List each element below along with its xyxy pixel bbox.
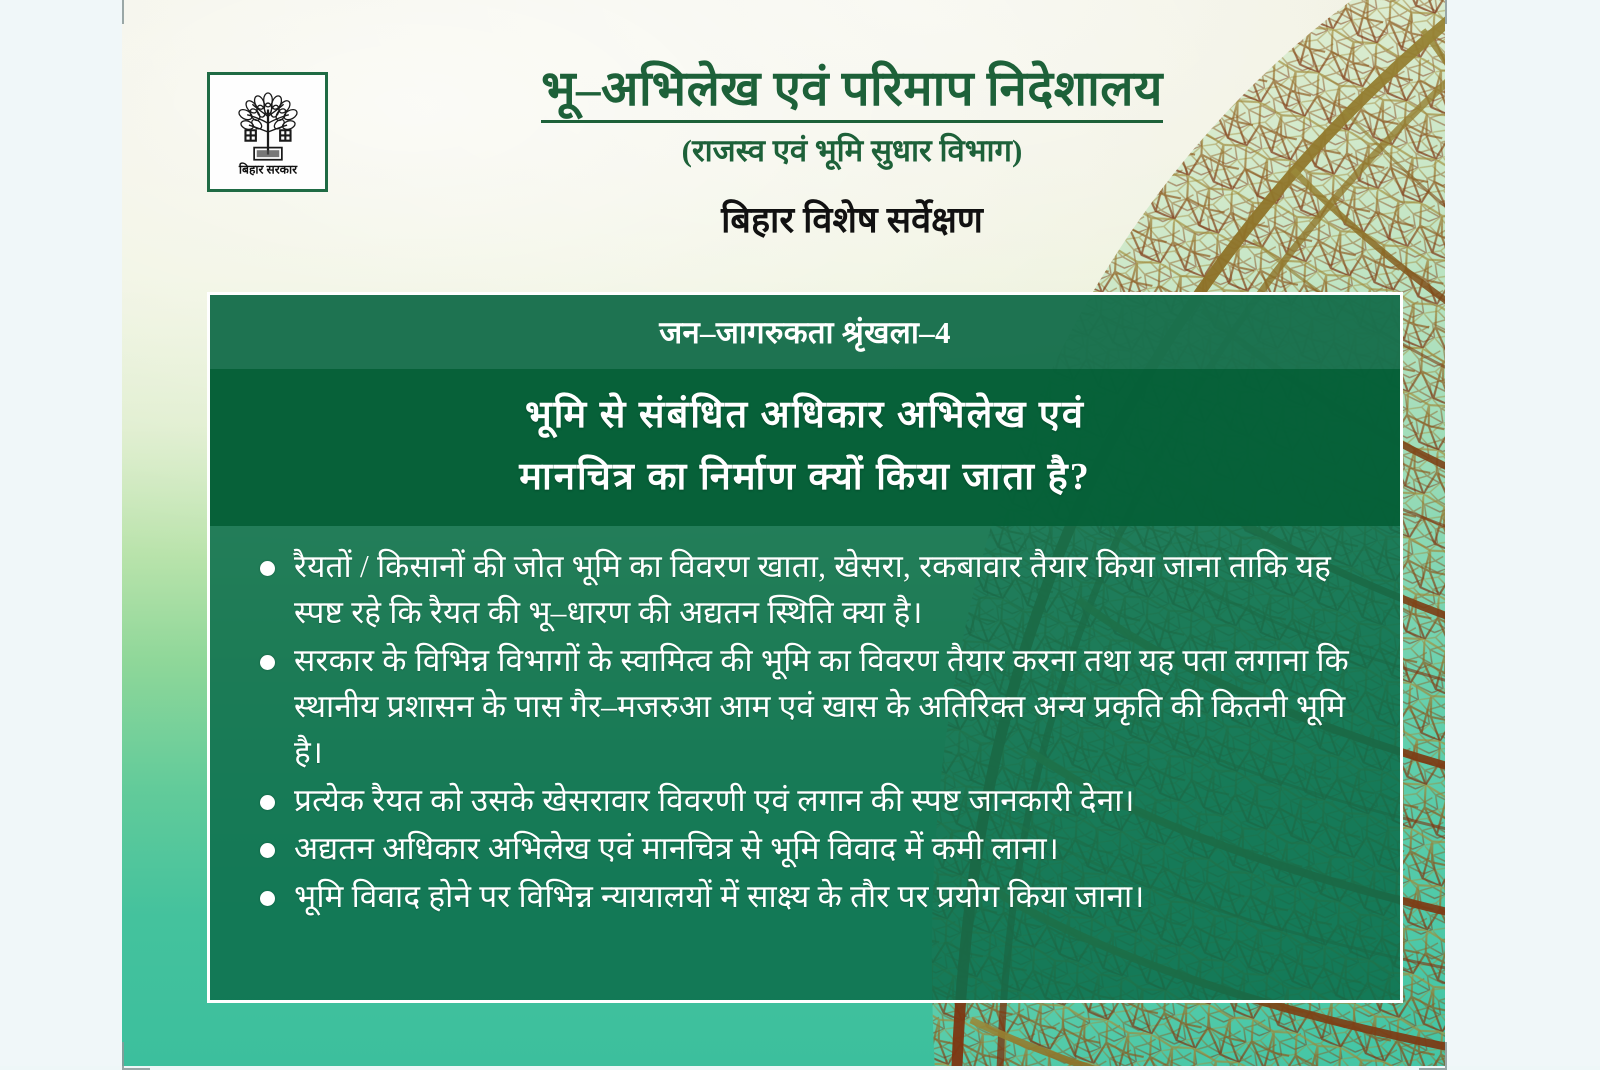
survey-title: बिहार विशेष सर्वेक्षण (322, 199, 1382, 242)
series-banner: जन–जागरुकता श्रृंखला–4 (210, 295, 1400, 369)
org-subtitle: (राजस्व एवं भूमि सुधार विभाग) (322, 132, 1382, 169)
list-item-text: सरकार के विभिन्न विभागों के स्वामित्व की… (294, 643, 1349, 770)
crop-mark-top-right (1419, 0, 1447, 24)
series-label: जन–जागरुकता श्रृंखला–4 (659, 311, 951, 353)
header-title-block: भू–अभिलेख एवं परिमाप निदेशालय (राजस्व एव… (322, 60, 1382, 242)
list-item-text: भूमि विवाद होने पर विभिन्न न्यायालयों मे… (294, 879, 1145, 914)
poster-canvas: बिहार सरकार भू–अभिलेख एवं परिमाप निदेशाल… (122, 0, 1445, 1066)
list-item: रैयतों / किसानों की जोत भूमि का विवरण खा… (244, 544, 1360, 636)
poster-header: बिहार सरकार भू–अभिलेख एवं परिमाप निदेशाल… (122, 0, 1445, 292)
list-item: भूमि विवाद होने पर विभिन्न न्यायालयों मे… (244, 874, 1360, 920)
bullet-icon (260, 843, 275, 858)
card-body: रैयतों / किसानों की जोत भूमि का विवरण खा… (210, 526, 1400, 920)
bihar-government-emblem-logo: बिहार सरकार (207, 72, 328, 192)
right-gutter (1445, 0, 1600, 1066)
emblem-caption: बिहार सरकार (237, 162, 297, 177)
left-gutter (0, 0, 122, 1066)
list-item-text: अद्यतन अधिकार अभिलेख एवं मानचित्र से भूम… (294, 831, 1059, 866)
list-item: सरकार के विभिन्न विभागों के स्वामित्व की… (244, 638, 1360, 776)
list-item: अद्यतन अधिकार अभिलेख एवं मानचित्र से भूम… (244, 826, 1360, 872)
list-item-text: प्रत्येक रैयत को उसके खेसरावार विवरणी एव… (294, 783, 1135, 818)
card-heading-line-2: मानचित्र का निर्माण क्यों किया जाता है? (240, 447, 1370, 509)
bullet-icon (260, 891, 275, 906)
org-title-wrap: भू–अभिलेख एवं परिमाप निदेशालय (322, 60, 1382, 123)
card-heading-line-1: भूमि से संबंधित अधिकार अभिलेख एवं (240, 385, 1370, 447)
points-list: रैयतों / किसानों की जोत भूमि का विवरण खा… (244, 544, 1360, 920)
bullet-icon (260, 655, 275, 670)
awareness-card: जन–जागरुकता श्रृंखला–4 भूमि से संबंधित अ… (207, 292, 1403, 1003)
emblem-icon: बिहार सरकार (216, 80, 320, 184)
list-item-text: रैयतों / किसानों की जोत भूमि का विवरण खा… (294, 549, 1331, 630)
list-item: प्रत्येक रैयत को उसके खेसरावार विवरणी एव… (244, 778, 1360, 824)
org-title: भू–अभिलेख एवं परिमाप निदेशालय (541, 60, 1163, 123)
poster-screen: बिहार सरकार भू–अभिलेख एवं परिमाप निदेशाल… (0, 0, 1600, 1066)
card-heading-banner: भूमि से संबंधित अधिकार अभिलेख एवं मानचित… (210, 369, 1400, 526)
bullet-icon (260, 795, 275, 810)
crop-mark-top-left (122, 0, 150, 24)
bullet-icon (260, 561, 275, 576)
